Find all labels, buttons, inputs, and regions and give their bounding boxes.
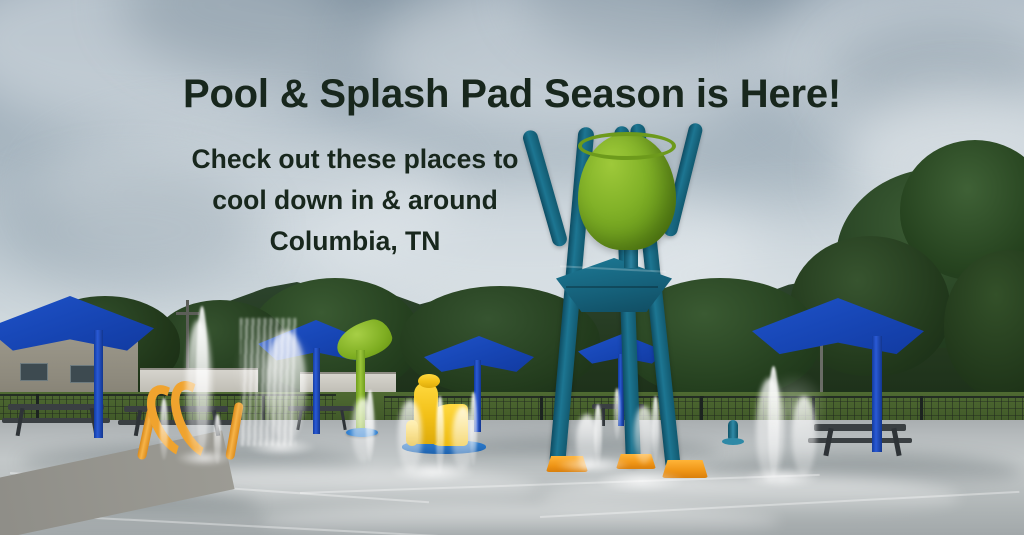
water-jet — [366, 390, 374, 462]
canopy-pole — [872, 336, 882, 452]
yellow-play-cap — [418, 374, 440, 388]
water-splash — [596, 470, 686, 492]
water-splash — [176, 450, 232, 466]
water-spray — [186, 320, 212, 456]
water-mist — [230, 330, 320, 410]
water-splash — [390, 462, 476, 482]
ground-nozzle-base — [722, 438, 744, 445]
bucket-rim — [578, 132, 676, 160]
plate-shadow — [566, 286, 658, 288]
shade-canopy — [0, 296, 154, 366]
water-spray — [634, 406, 654, 464]
water-jet — [470, 392, 477, 466]
water-jet — [614, 388, 620, 440]
shade-canopy — [752, 298, 924, 370]
utility-pole-crossarm — [176, 312, 199, 315]
canopy-top — [0, 296, 154, 366]
water-spray — [398, 400, 422, 472]
canopy-top — [752, 298, 924, 370]
water-splash — [246, 438, 316, 456]
splash-pad-poster: Pool & Splash Pad Season is Here! Check … — [0, 0, 1024, 535]
water-mist — [758, 372, 828, 442]
cloud — [0, 170, 260, 290]
canopy-pole — [94, 330, 103, 438]
water-jet — [160, 398, 168, 460]
water-splash — [744, 468, 820, 488]
